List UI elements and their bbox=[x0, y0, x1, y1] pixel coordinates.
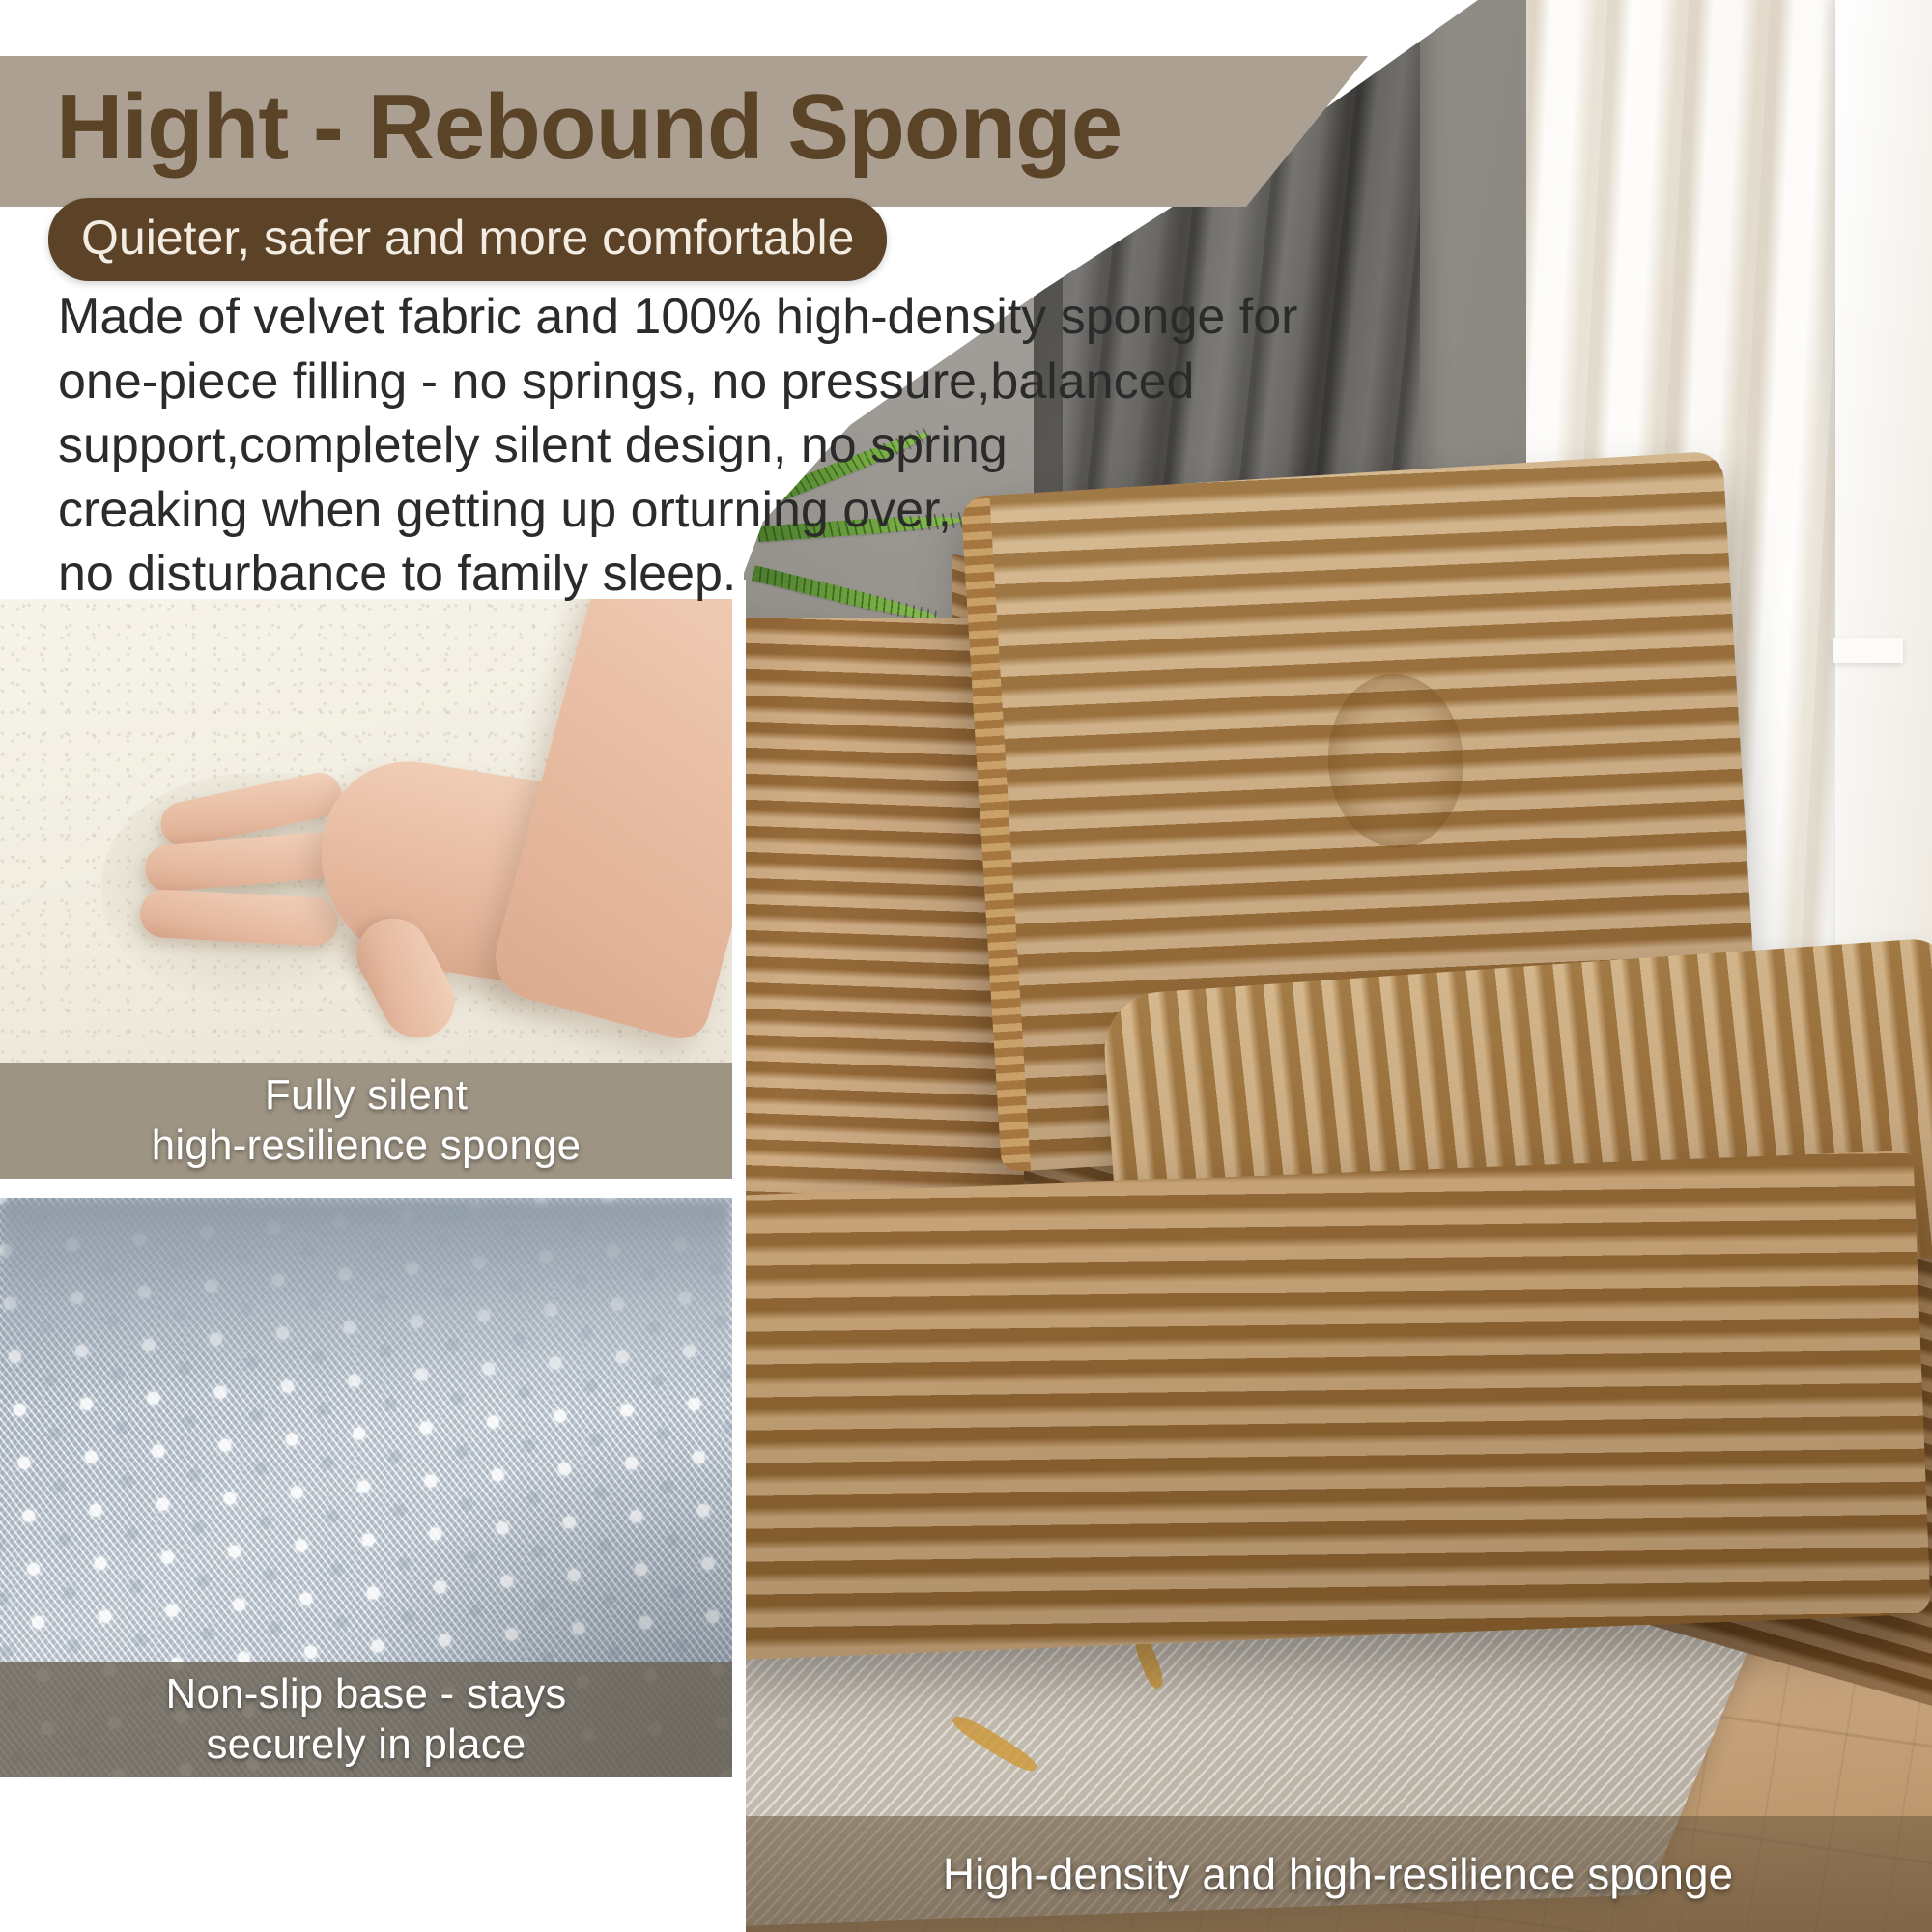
foam-hand-photo: Fully silent high-resilience sponge bbox=[0, 580, 732, 1179]
left-photo-column: Fully silent high-resilience sponge Non-… bbox=[0, 580, 732, 1932]
body-line: Made of velvet fabric and 100% high-dens… bbox=[58, 285, 1343, 350]
caption-line-2: securely in place bbox=[206, 1719, 526, 1770]
caption-room-scene: High-density and high-resilience sponge bbox=[744, 1816, 1932, 1932]
body-line: support,completely silent design, no spr… bbox=[58, 413, 1343, 478]
body-line: no disturbance to family sleep. bbox=[58, 542, 1343, 607]
caption-line-2: high-resilience sponge bbox=[152, 1121, 582, 1171]
page-title: Hight - Rebound Sponge bbox=[56, 60, 1122, 194]
finger bbox=[139, 889, 339, 948]
body-paragraph: Made of velvet fabric and 100% high-dens… bbox=[58, 285, 1343, 607]
subtitle-pill: Quieter, safer and more comfortable bbox=[48, 198, 887, 281]
chair-base bbox=[744, 1151, 1931, 1661]
body-line: one-piece filling - no springs, no press… bbox=[58, 350, 1343, 414]
caption-line-1: Non-slip base - stays bbox=[165, 1669, 566, 1719]
non-slip-base-photo: Non-slip base - stays securely in place bbox=[0, 1198, 732, 1777]
product-infographic: High-density and high-resilience sponge … bbox=[0, 0, 1932, 1932]
caption-fully-silent: Fully silent high-resilience sponge bbox=[0, 1063, 732, 1179]
body-line: creaking when getting up orturning over, bbox=[58, 478, 1343, 543]
caption-line-1: Fully silent bbox=[265, 1070, 468, 1121]
caption-non-slip: Non-slip base - stays securely in place bbox=[0, 1662, 732, 1777]
